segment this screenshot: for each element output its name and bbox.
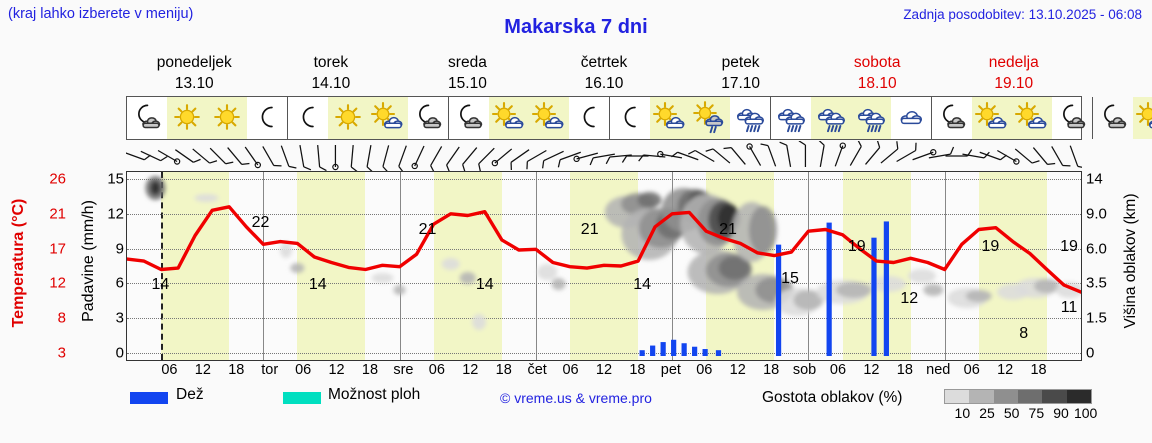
x-tick-label: čet [527, 362, 546, 378]
cloud-rain-icon [771, 97, 811, 139]
x-tick-label: 12 [863, 362, 879, 378]
day-date: 19.10 [945, 73, 1082, 94]
weather-icon-row [126, 96, 1082, 140]
weather-icon-day-5 [932, 97, 1093, 139]
x-tick-label: 12 [997, 362, 1013, 378]
axis-tick: 8 [58, 310, 66, 327]
x-tick-label: 06 [161, 362, 177, 378]
x-tick-label: 06 [295, 362, 311, 378]
day-name: ponedeljek [126, 52, 263, 73]
moon-icon [610, 97, 650, 139]
x-tick-label: 18 [1030, 362, 1046, 378]
moon-cloud-icon [1093, 97, 1133, 139]
forecast-plot-area: 14221421142114211519121981911 [126, 171, 1082, 361]
x-tick-label: pet [661, 362, 681, 378]
sun-icon [207, 97, 247, 139]
axis-tick: 6.0 [1086, 240, 1107, 257]
cloud-density-swatch-0 [945, 390, 969, 403]
sun-cloud-icon [1133, 97, 1152, 139]
cloud-density-tick: 90 [1053, 405, 1069, 421]
x-tick-label: 06 [696, 362, 712, 378]
day-header-5: sobota18.10 [809, 52, 946, 94]
temperature-annotation: 14 [476, 276, 494, 294]
x-tick-label: ned [926, 362, 950, 378]
wind-barb-row [126, 141, 1082, 171]
temperature-annotation: 21 [719, 221, 737, 239]
cloud-density-color-ramp [944, 389, 1092, 404]
axis-tick: 3 [58, 345, 66, 362]
x-tick-label: 18 [897, 362, 913, 378]
day-date: 16.10 [536, 73, 673, 94]
day-name: torek [263, 52, 400, 73]
x-tick-label: 06 [429, 362, 445, 378]
x-tick-label: 18 [763, 362, 779, 378]
weather-icon-day-6 [1093, 97, 1152, 139]
temperature-annotation: 21 [419, 221, 437, 239]
day-header-1: torek14.10 [263, 52, 400, 94]
x-tick-label: 18 [629, 362, 645, 378]
temperature-axis-title: Temperatura (°C) [6, 172, 32, 362]
day-date: 18.10 [809, 73, 946, 94]
weather-icon-day-0 [127, 97, 288, 139]
moon-cloud-icon [932, 97, 972, 139]
temperature-annotation: 22 [252, 214, 270, 232]
day-header-3: četrtek16.10 [536, 52, 673, 94]
moon-cloud-icon [1052, 97, 1092, 139]
cloud-density-tick: 10 [955, 405, 971, 421]
sun-cloud-icon [972, 97, 1012, 139]
cloud-density-legend-title: Gostota oblakov (%) [762, 389, 902, 407]
axis-tick: 3 [116, 310, 124, 327]
weather-icon-day-1 [288, 97, 449, 139]
sun-cloud-icon [1012, 97, 1052, 139]
day-header-2: sreda15.10 [399, 52, 536, 94]
temperature-annotation: 8 [1019, 325, 1028, 343]
axis-tick: 21 [49, 205, 66, 222]
x-tick-label: tor [261, 362, 278, 378]
legend-showers-swatch [283, 392, 321, 404]
day-header-6: nedelja19.10 [945, 52, 1082, 94]
day-date: 13.10 [126, 73, 263, 94]
temperature-annotation: 14 [633, 276, 651, 294]
moon-cloud-icon [408, 97, 448, 139]
axis-tick: 26 [49, 171, 66, 188]
axis-tick: 1.5 [1086, 310, 1107, 327]
x-tick-label: 06 [830, 362, 846, 378]
sun-cloud-icon [650, 97, 690, 139]
sun-cloud-icon [489, 97, 529, 139]
x-tick-label: 18 [228, 362, 244, 378]
temperature-annotation: 21 [581, 221, 599, 239]
x-axis-ticks: 061218tor061218sre061218čet061218pet0612… [126, 362, 1082, 382]
precipitation-axis-ticks: 15129630 [96, 171, 124, 361]
legend-rain-swatch [130, 392, 168, 404]
moon-icon [569, 97, 609, 139]
temperature-annotation: 19 [1060, 238, 1078, 256]
temperature-annotation: 14 [309, 276, 327, 294]
sun-icon [167, 97, 207, 139]
cloud-density-swatch-1 [969, 390, 993, 403]
cloud-density-swatch-5 [1067, 390, 1091, 403]
sun-cloud-icon [529, 97, 569, 139]
cloud-density-tick: 50 [1004, 405, 1020, 421]
moon-icon [247, 97, 287, 139]
axis-tick: 3.5 [1086, 275, 1107, 292]
x-tick-label: 06 [562, 362, 578, 378]
axis-tick: 12 [49, 275, 66, 292]
day-name: sreda [399, 52, 536, 73]
day-name: četrtek [536, 52, 673, 73]
x-tick-label: sob [793, 362, 816, 378]
x-tick-label: 12 [195, 362, 211, 378]
axis-tick: 9 [116, 240, 124, 257]
axis-tick: 14 [1086, 171, 1103, 188]
x-tick-label: 12 [328, 362, 344, 378]
temperature-annotation: 19 [981, 238, 999, 256]
x-tick-label: 12 [596, 362, 612, 378]
moon-cloud-icon [127, 97, 167, 139]
sun-cloud-icon [368, 97, 408, 139]
x-tick-label: sre [393, 362, 413, 378]
temperature-annotation: 19 [848, 238, 866, 256]
cloud-density-swatch-4 [1042, 390, 1066, 403]
sun-cloud-rain-icon [690, 97, 730, 139]
x-tick-label: 12 [462, 362, 478, 378]
day-name: sobota [809, 52, 946, 73]
weather-forecast-page: (kraj lahko izberete v meniju) Makarska … [0, 0, 1152, 443]
weather-icon-day-2 [449, 97, 610, 139]
day-date: 15.10 [399, 73, 536, 94]
cloud-rain-icon [851, 97, 891, 139]
cloud-density-tick: 75 [1029, 405, 1045, 421]
x-tick-label: 06 [964, 362, 980, 378]
cloud-density-scale-ticks: 1025507590100 [938, 405, 1108, 423]
day-header-4: petek17.10 [672, 52, 809, 94]
temperature-annotation: 15 [781, 270, 799, 288]
x-tick-label: 18 [496, 362, 512, 378]
legend-rain-label: Dež [176, 386, 204, 404]
x-tick-label: 18 [362, 362, 378, 378]
forecast-plot: 14221421142114211519121981911 [126, 171, 1082, 361]
cloud-height-axis-ticks: 149.06.03.51.50 [1086, 171, 1120, 361]
cloud-density-tick: 100 [1074, 405, 1097, 421]
cloud-height-axis-title: Višina oblakov (km) [1118, 172, 1144, 362]
temperature-annotation: 12 [900, 290, 918, 308]
x-tick-label: 12 [730, 362, 746, 378]
day-name: petek [672, 52, 809, 73]
cloud-density-swatch-2 [994, 390, 1018, 403]
cloud-rain-icon [730, 97, 770, 139]
axis-tick: 0 [116, 345, 124, 362]
axis-tick: 15 [107, 171, 124, 188]
legend-showers-label: Možnost ploh [328, 386, 420, 404]
sun-icon [328, 97, 368, 139]
last-updated-label: Zadnja posodobitev: 13.10.2025 - 06:08 [903, 7, 1142, 22]
day-date: 17.10 [672, 73, 809, 94]
temperature-annotation: 11 [1061, 299, 1078, 317]
moon-icon [288, 97, 328, 139]
axis-tick: 6 [116, 275, 124, 292]
day-header-row: ponedeljek13.10torek14.10sreda15.10četrt… [126, 52, 1082, 94]
weather-icon-day-3 [610, 97, 771, 139]
day-date: 14.10 [263, 73, 400, 94]
cloud-icon [891, 97, 931, 139]
cloud-density-swatch-3 [1018, 390, 1042, 403]
temperature-axis-ticks: 2621171283 [32, 171, 66, 361]
temperature-line [127, 172, 1081, 360]
axis-tick: 12 [107, 205, 124, 222]
weather-icon-day-4 [771, 97, 932, 139]
axis-tick: 17 [49, 240, 66, 257]
temperature-annotation: 14 [151, 276, 169, 294]
axis-tick: 9.0 [1086, 205, 1107, 222]
day-name: nedelja [945, 52, 1082, 73]
cloud-rain-icon [811, 97, 851, 139]
axis-tick: 0 [1086, 345, 1094, 362]
cloud-density-tick: 25 [979, 405, 995, 421]
copyright-link[interactable]: © vreme.us & vreme.pro [500, 390, 652, 406]
moon-cloud-icon [449, 97, 489, 139]
day-header-0: ponedeljek13.10 [126, 52, 263, 94]
